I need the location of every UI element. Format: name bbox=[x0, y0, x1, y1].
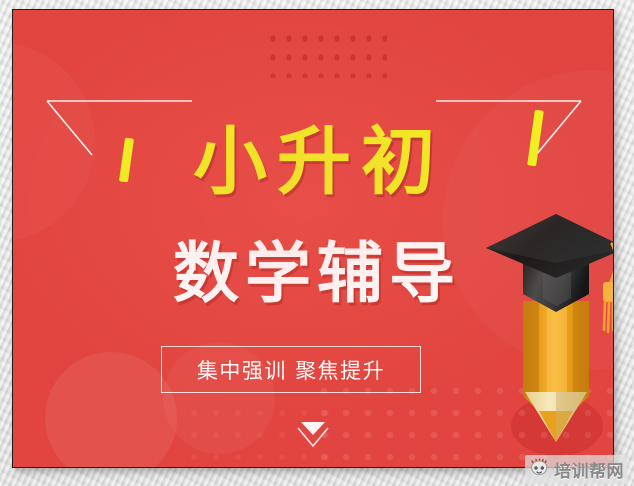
dot-grid-decoration-icon bbox=[263, 26, 387, 78]
page-canvas: 小升初 数学辅导 集中强训 聚焦提升 bbox=[0, 0, 634, 486]
watermark: 培训帮网 bbox=[525, 455, 628, 484]
tagline-text: 集中强训 聚焦提升 bbox=[197, 355, 385, 385]
scroll-down-arrow-icon[interactable] bbox=[289, 414, 337, 454]
promo-poster: 小升初 数学辅导 集中强训 聚焦提升 bbox=[12, 9, 614, 468]
decor-circle-bottom-left bbox=[45, 352, 177, 468]
page-title: 小升初 bbox=[13, 123, 614, 201]
sun-face-logo-icon bbox=[529, 458, 549, 482]
graduation-cap-pencil-illustration bbox=[481, 206, 614, 451]
watermark-text: 培训帮网 bbox=[554, 457, 624, 482]
tagline-box: 集中强训 聚焦提升 bbox=[161, 346, 421, 393]
